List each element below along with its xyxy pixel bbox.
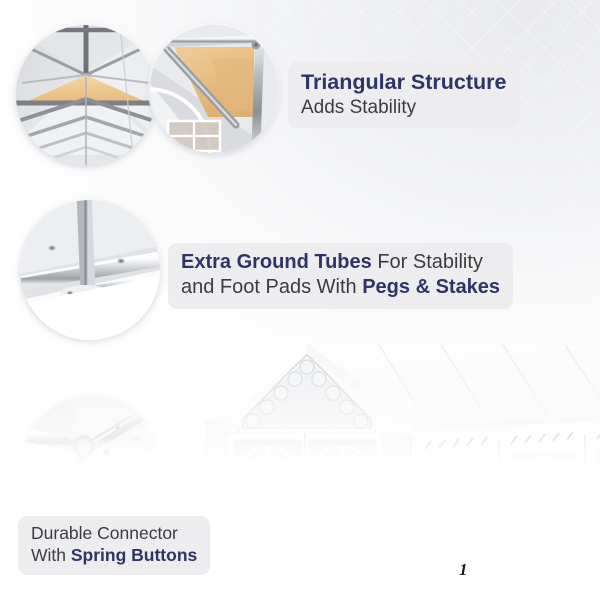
- callout-triangular-structure: Triangular Structure Adds Stability: [288, 62, 520, 128]
- infographic-canvas: 1 Triangular Structure Adds Stability Ex…: [0, 0, 600, 600]
- callout-triangular-line2: Adds Stability: [301, 96, 507, 120]
- callout-extra-ground-tubes: Extra Ground Tubes For Stability and Foo…: [168, 243, 513, 309]
- circle-triangle-roof-photo: [16, 25, 156, 165]
- callout-connector-line2: With Spring Buttons: [31, 545, 197, 567]
- roof-truss-image: [16, 25, 156, 165]
- callout-triangular-line1: Triangular Structure: [301, 69, 507, 96]
- callout-durable-connector: Durable Connector With Spring Buttons: [18, 516, 210, 575]
- watermark-numeral: 1: [459, 560, 468, 580]
- callout-ground-line2: and Foot Pads With Pegs & Stakes: [181, 275, 500, 300]
- circle-corner-brace-photo: [150, 25, 278, 153]
- callout-connector-line1: Durable Connector: [31, 523, 197, 545]
- corner-joint-image: [150, 25, 278, 153]
- callout-ground-line1: Extra Ground Tubes For Stability: [181, 250, 500, 275]
